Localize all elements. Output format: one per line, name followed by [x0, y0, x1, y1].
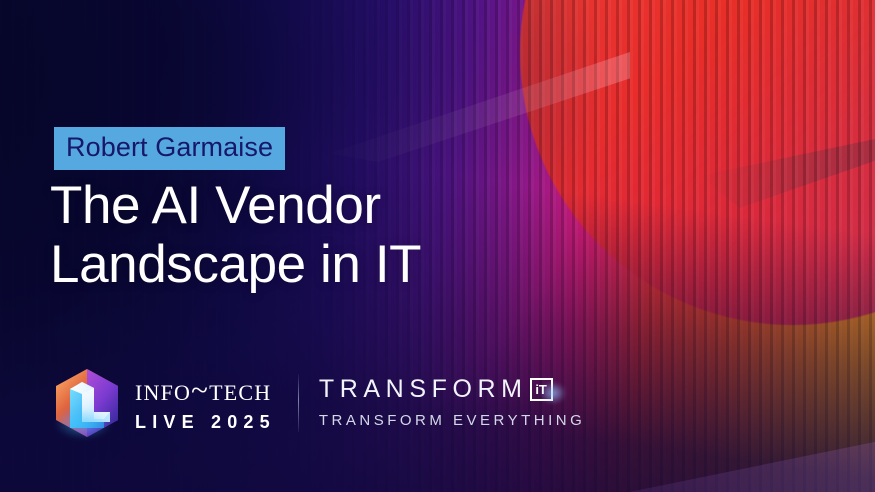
logo-divider [298, 374, 299, 432]
slide-title: The AI Vendor Landscape in IT [50, 176, 421, 294]
slide-content: Robert Garmaise The AI Vendor Landscape … [0, 0, 875, 492]
transform-tagline: TRANSFORM EVERYTHING [319, 412, 585, 429]
infotech-wordmark: Info~Tech LIVE 2025 [135, 372, 276, 434]
speaker-name-badge: Robert Garmaise [54, 127, 285, 170]
transform-wordmark: TRANSFORM iT TRANSFORM EVERYTHING [319, 372, 585, 434]
infotech-hexagon-l-logo [52, 367, 122, 439]
transform-word: TRANSFORM [319, 377, 528, 402]
it-badge-icon: iT [530, 378, 553, 401]
transform-title-row: TRANSFORM iT [319, 377, 585, 402]
infotech-event-label: LIVE 2025 [135, 412, 276, 432]
badge-glow [540, 382, 566, 404]
footer-logo-bar: Info~Tech LIVE 2025 TRANSFORM iT TRANSFO… [52, 366, 585, 440]
infotech-name: Info~Tech [135, 374, 276, 405]
presentation-title-slide: Robert Garmaise The AI Vendor Landscape … [0, 0, 875, 492]
